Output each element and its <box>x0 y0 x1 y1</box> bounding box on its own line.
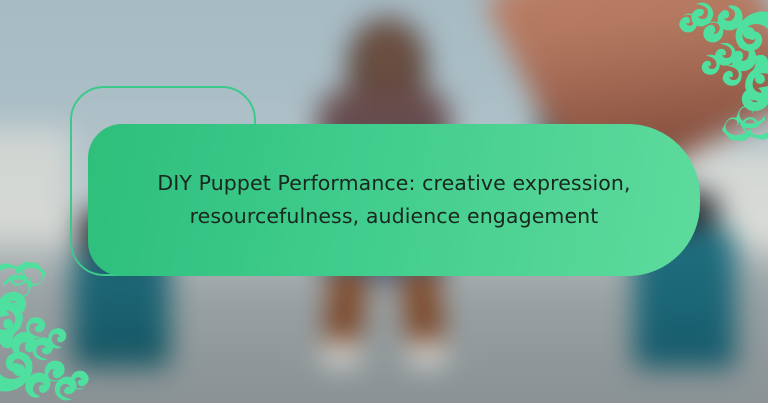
background-building-left <box>0 130 70 240</box>
card-title-text: DIY Puppet Performance: creative express… <box>140 167 648 233</box>
background-person-center-shoe-left <box>322 342 360 364</box>
background-person-center-shoe-right <box>408 342 446 364</box>
title-card-image: DIY Puppet Performance: creative express… <box>0 0 768 403</box>
title-card: DIY Puppet Performance: creative express… <box>88 124 700 276</box>
